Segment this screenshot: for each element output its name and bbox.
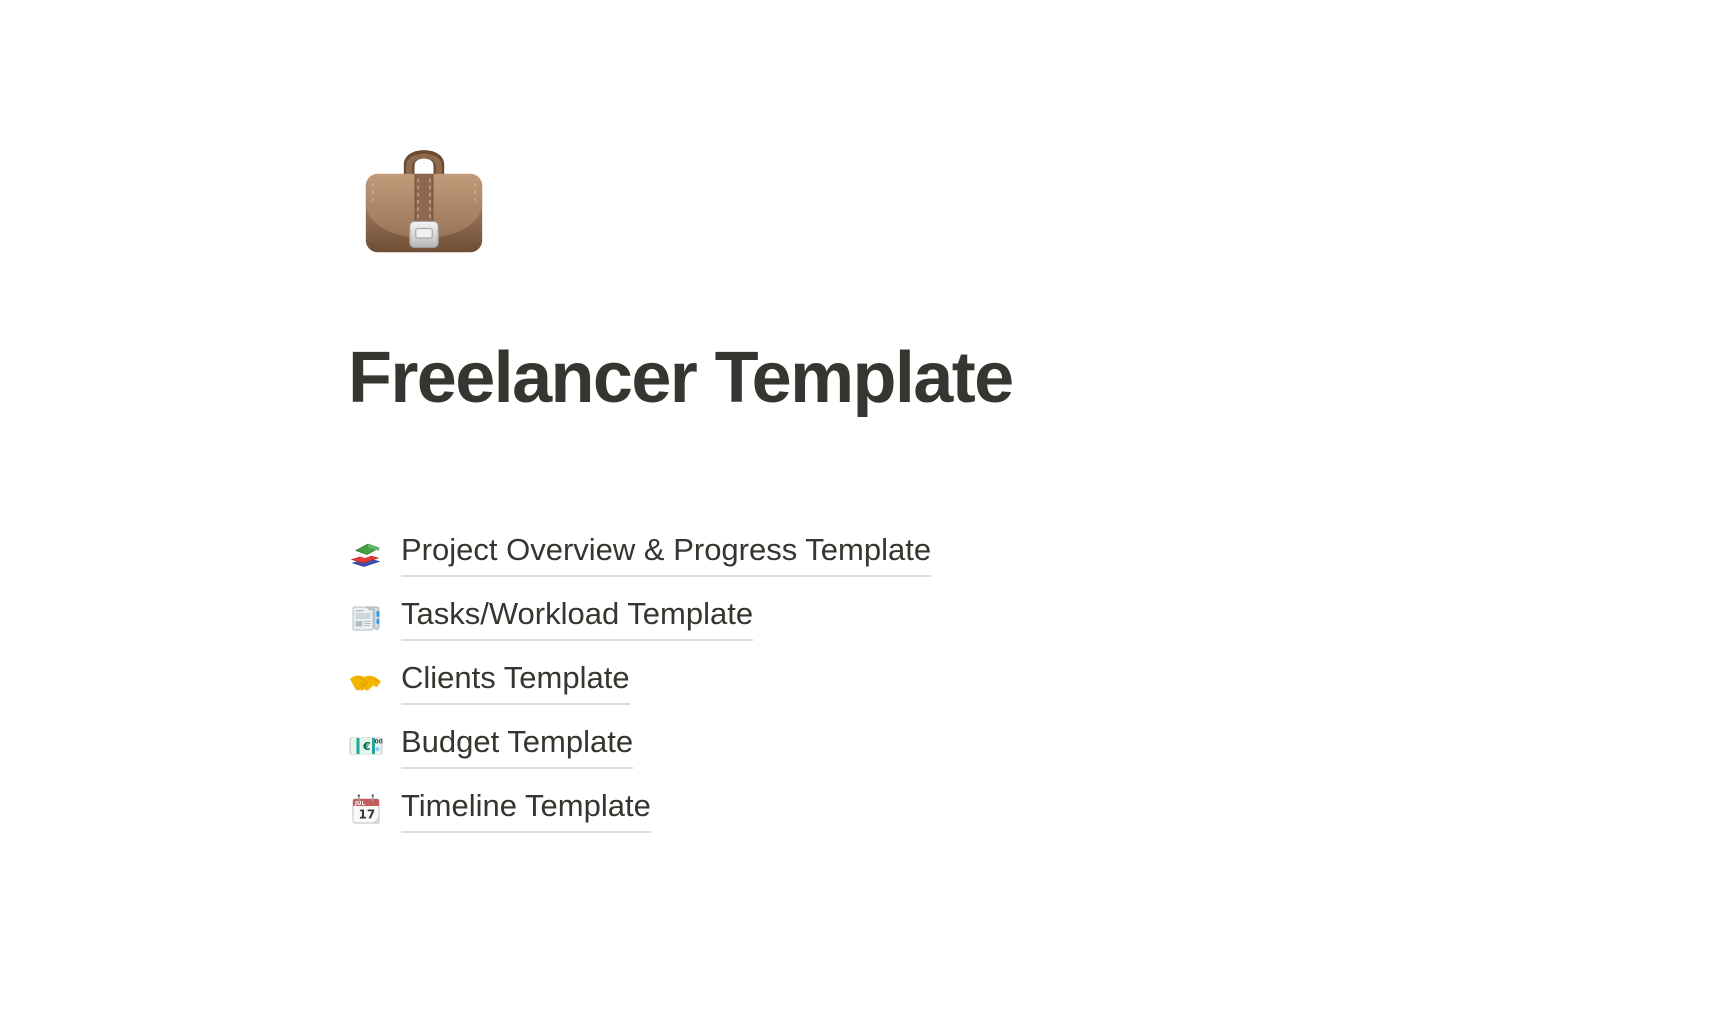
list-item: JUL 17 Timeline Template bbox=[348, 778, 1548, 842]
euro-banknote-icon: € 00 bbox=[348, 727, 386, 765]
svg-text:00: 00 bbox=[375, 739, 383, 746]
list-item: Tasks/Workload Template bbox=[348, 586, 1548, 650]
handshake-icon bbox=[348, 663, 386, 701]
svg-text:€: € bbox=[362, 740, 371, 753]
rolled-up-newspaper-icon bbox=[348, 599, 386, 637]
calendar-month-label: JUL bbox=[354, 801, 366, 807]
list-item: € 00 Budget Template bbox=[348, 714, 1548, 778]
link-clients-template[interactable]: Clients Template bbox=[401, 659, 630, 705]
document-page: Freelancer Template Project O bbox=[0, 0, 1734, 1024]
template-link-list: Project Overview & Progress Template bbox=[348, 522, 1548, 842]
link-budget-template[interactable]: Budget Template bbox=[401, 723, 633, 769]
briefcase-icon[interactable] bbox=[348, 124, 500, 276]
list-item: Clients Template bbox=[348, 650, 1548, 714]
books-icon bbox=[348, 535, 386, 573]
link-timeline-template[interactable]: Timeline Template bbox=[401, 787, 651, 833]
page-title: Freelancer Template bbox=[348, 338, 1013, 419]
link-project-overview-progress-template[interactable]: Project Overview & Progress Template bbox=[401, 531, 931, 577]
calendar-day-label: 17 bbox=[359, 808, 376, 822]
link-tasks-workload-template[interactable]: Tasks/Workload Template bbox=[401, 595, 753, 641]
list-item: Project Overview & Progress Template bbox=[348, 522, 1548, 586]
calendar-icon: JUL 17 bbox=[348, 791, 386, 829]
